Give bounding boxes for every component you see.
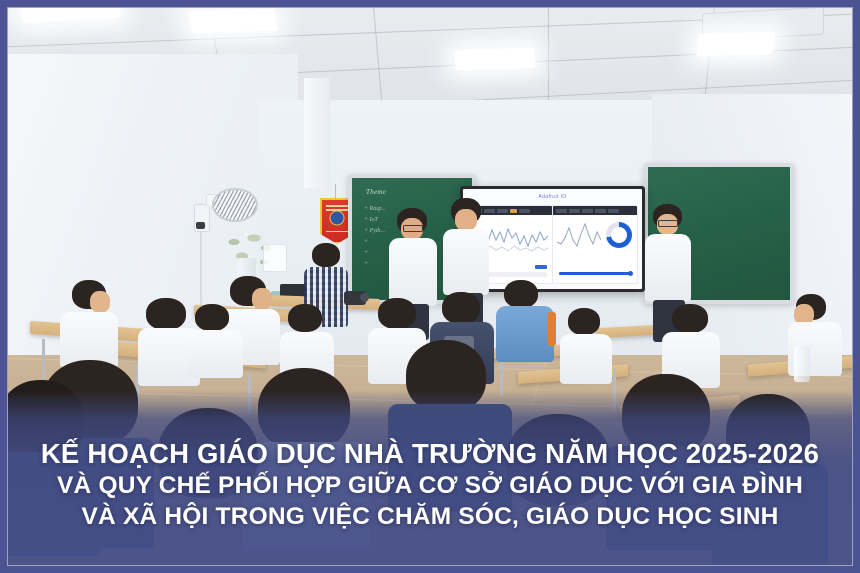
wall-notes <box>263 244 287 272</box>
pennant-seal <box>330 210 345 225</box>
wall-camera-icon <box>196 222 205 229</box>
caption-line-2: VÀ QUY CHẾ PHỐI HỢP GIỮA CƠ SỞ GIÁO DỤC … <box>22 472 838 500</box>
fan-icon <box>212 188 258 222</box>
ceiling-light <box>455 48 536 71</box>
ceiling-light <box>188 8 277 33</box>
caption-block: KẾ HOẠCH GIÁO DỤC NHÀ TRƯỜNG NĂM HỌC 202… <box>8 438 852 565</box>
caption-line-1: KẾ HOẠCH GIÁO DỤC NHÀ TRƯỜNG NĂM HỌC 202… <box>22 438 838 470</box>
ceiling-light <box>18 8 121 23</box>
gauge-widget <box>606 222 632 248</box>
water-bottle <box>794 346 810 382</box>
ceiling-light <box>696 32 775 57</box>
pennant-hanger <box>335 184 336 199</box>
dashboard-right-panel <box>552 205 638 284</box>
caption-line-3: VÀ XÃ HỘI TRONG VIỆC CHĂM SÓC, GIÁO DỤC … <box>22 503 838 531</box>
wall-column <box>304 78 330 188</box>
line-chart-right <box>557 220 601 254</box>
fan-pole <box>200 229 202 307</box>
classroom-photo: Theme + Rasp...+ IoT+ Pyth... +++ Adafru… <box>8 8 852 565</box>
poster: Theme + Rasp...+ IoT+ Pyth... +++ Adafru… <box>0 0 860 573</box>
screen-title: Adafruit IO <box>463 194 642 200</box>
chalkboard-bullets: + Rasp...+ IoT+ Pyth... +++ <box>364 204 386 270</box>
slider-widget <box>559 272 631 275</box>
chalkboard-heading: Theme <box>366 188 386 196</box>
